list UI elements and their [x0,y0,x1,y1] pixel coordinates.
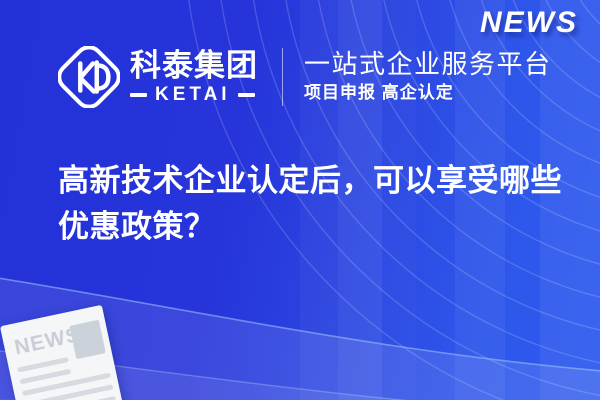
logo-english-name: KETAI [147,85,238,104]
ketai-diamond-monogram-icon [58,46,120,108]
news-banner: 科泰集团 KETAI 一站式企业服务平台 项目申报 高企认定 NEWS 高新技术… [0,0,600,400]
logo-rule-right-icon [238,93,255,97]
vertical-divider-icon [282,48,283,106]
brand-slogan: 一站式企业服务平台 项目申报 高企认定 [304,50,552,104]
logo-wordmark: 科泰集团 KETAI [130,50,258,105]
logo-rule-left-icon [130,93,147,97]
slogan-sub: 项目申报 高企认定 [304,83,552,103]
slogan-main: 一站式企业服务平台 [304,50,552,79]
news-badge: NEWS [480,6,578,40]
banner-header: 科泰集团 KETAI 一站式企业服务平台 项目申报 高企认定 [58,38,552,116]
page-title: 高新技术企业认定后，可以享受哪些优惠政策？ [58,158,570,250]
logo-chinese-name: 科泰集团 [130,50,258,83]
logo-english-row: KETAI [130,85,258,104]
brand-logo[interactable]: 科泰集团 KETAI [58,38,258,116]
